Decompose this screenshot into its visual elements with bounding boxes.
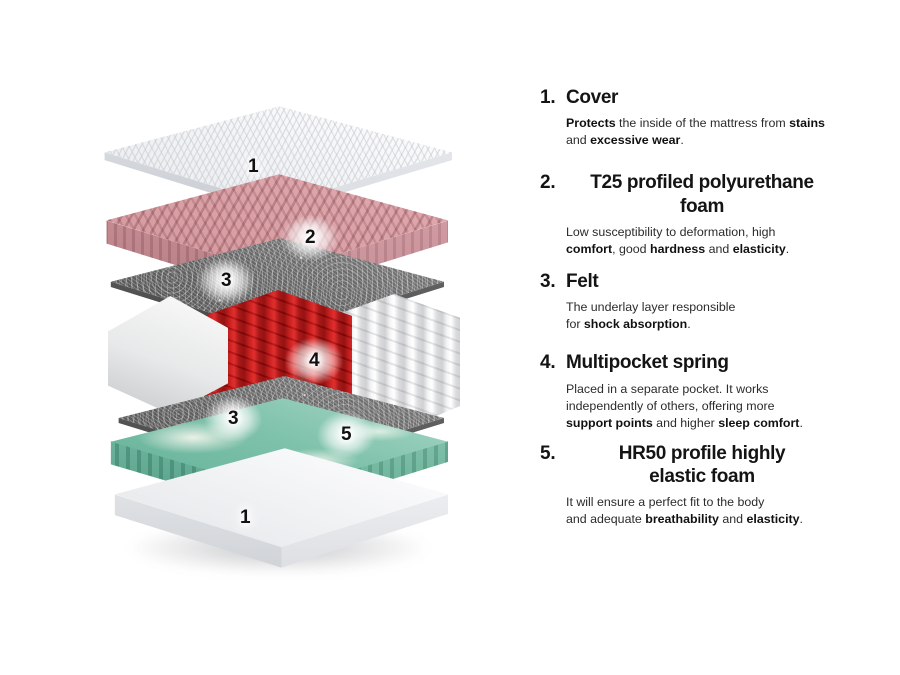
layer-description-list: 1. Cover Protects the inside of the matt…: [540, 86, 890, 536]
legend-title-t25-line1: T25 profiled polyurethane: [590, 172, 814, 193]
legend-title-hr50-line1: HR50 profile highly: [619, 443, 785, 464]
legend-body-spring-bold-support: support points: [566, 416, 653, 430]
cover-bottom-surface: [108, 446, 448, 556]
legend-body-cover-bold-wear: excessive wear: [590, 133, 680, 147]
legend-heading-hr50-foam: 5. HR50 profile highly elastic foam: [540, 442, 890, 488]
legend-body-hr50-text-3: .: [800, 512, 803, 526]
legend-item-hr50-foam: 5. HR50 profile highly elastic foam It w…: [540, 442, 890, 529]
callout-cover-top: 1: [248, 157, 259, 176]
legend-body-cover-bold-protects: Protects: [566, 116, 616, 130]
legend-body-felt: The underlay layer responsible for shock…: [566, 299, 856, 333]
legend-title-t25-foam: T25 profiled polyurethane foam: [566, 171, 838, 217]
legend-body-cover-bold-stains: stains: [789, 116, 825, 130]
legend-body-t25-bold-comfort: comfort: [566, 242, 612, 256]
callout-t25-foam: 2: [305, 228, 316, 247]
legend-number-4: 4.: [540, 351, 566, 374]
legend-item-cover: 1. Cover Protects the inside of the matt…: [540, 86, 890, 149]
legend-body-spring-bold-sleep: sleep comfort: [718, 416, 799, 430]
mattress-exploded-diagram: 1 2 3 4 3 5 1: [0, 0, 520, 675]
legend-item-felt: 3. Felt The underlay layer responsible f…: [540, 270, 890, 333]
callout-felt-lower: 3: [228, 409, 239, 428]
legend-number-5: 5.: [540, 442, 566, 465]
legend-number-3: 3.: [540, 270, 566, 293]
legend-body-t25-line1: Low susceptibility to deformation, high: [566, 225, 775, 239]
legend-body-t25-foam: Low susceptibility to deformation, high …: [566, 224, 856, 258]
legend-body-t25-bold-hardness: hardness: [650, 242, 705, 256]
legend-body-spring-text-2: .: [799, 416, 802, 430]
legend-body-hr50-bold-elasticity: elasticity: [747, 512, 800, 526]
legend-body-cover-text-3: .: [680, 133, 683, 147]
legend-body-felt-text-2: .: [687, 317, 690, 331]
legend-body-t25-text-3: .: [786, 242, 789, 256]
legend-body-cover-text-1: the inside of the mattress from: [616, 116, 790, 130]
legend-heading-t25-foam: 2. T25 profiled polyurethane foam: [540, 171, 890, 217]
legend-title-felt: Felt: [566, 270, 598, 293]
legend-title-hr50-foam: HR50 profile highly elastic foam: [566, 442, 838, 488]
legend-body-felt-line1: The underlay layer responsible: [566, 300, 735, 314]
legend-number-1: 1.: [540, 86, 566, 109]
legend-body-t25-bold-elasticity: elasticity: [733, 242, 786, 256]
legend-title-hr50-line2: elastic foam: [649, 466, 755, 487]
legend-title-t25-line2: foam: [680, 196, 724, 217]
infographic-root: 1 2 3 4 3 5 1 1. Cover Protects the insi…: [0, 0, 900, 675]
legend-body-cover: Protects the inside of the mattress from…: [566, 115, 856, 149]
legend-item-t25-foam: 2. T25 profiled polyurethane foam Low su…: [540, 171, 890, 258]
callout-springs: 4: [309, 351, 320, 370]
legend-item-multipocket-spring: 4. Multipocket spring Placed in a separa…: [540, 351, 890, 432]
legend-body-spring-line2: independently of others, offering more: [566, 399, 774, 413]
legend-body-hr50-text-2: and: [719, 512, 747, 526]
legend-heading-multipocket-spring: 4. Multipocket spring: [540, 351, 890, 374]
legend-heading-cover: 1. Cover: [540, 86, 890, 109]
legend-body-felt-text-1: for: [566, 317, 584, 331]
legend-body-multipocket-spring: Placed in a separate pocket. It works in…: [566, 381, 856, 432]
legend-body-t25-text-2: and: [705, 242, 733, 256]
legend-heading-felt: 3. Felt: [540, 270, 890, 293]
legend-body-hr50-bold-breathability: breathability: [645, 512, 719, 526]
legend-body-cover-text-2: and: [566, 133, 590, 147]
legend-body-spring-line1: Placed in a separate pocket. It works: [566, 382, 769, 396]
legend-title-multipocket-spring: Multipocket spring: [566, 351, 729, 374]
legend-body-hr50-text-1: and adequate: [566, 512, 645, 526]
legend-body-hr50-foam: It will ensure a perfect fit to the body…: [566, 494, 856, 528]
legend-title-cover: Cover: [566, 86, 618, 109]
legend-body-felt-bold-shock: shock absorption: [584, 317, 687, 331]
layer-cover-bottom: [108, 446, 448, 574]
legend-body-t25-text-1: , good: [612, 242, 650, 256]
callout-felt-upper: 3: [221, 271, 232, 290]
legend-body-hr50-line1: It will ensure a perfect fit to the body: [566, 495, 764, 509]
legend-number-2: 2.: [540, 171, 566, 194]
callout-cover-bottom: 1: [240, 508, 251, 527]
legend-body-spring-text-1: and higher: [653, 416, 718, 430]
callout-hr50-foam: 5: [341, 425, 352, 444]
